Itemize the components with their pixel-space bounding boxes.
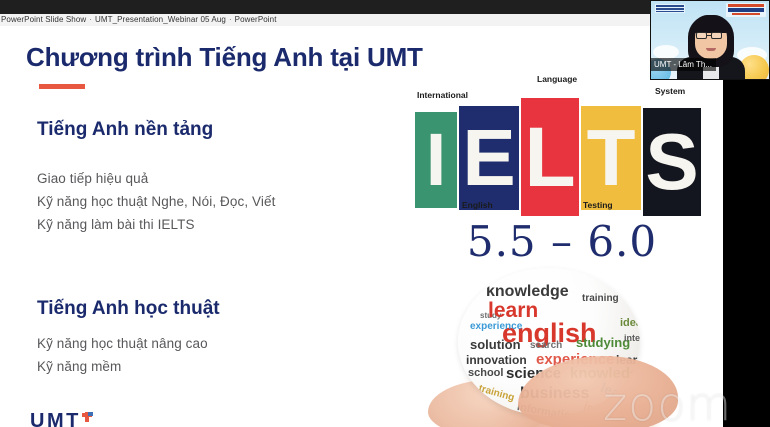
bullet-foundation-1: Giao tiếp hiệu quả bbox=[37, 171, 148, 186]
ielts-letter-e: E bbox=[459, 106, 519, 210]
zoom-shared-screen: PowerPoint Slide Show · UMT_Presentation… bbox=[0, 0, 770, 427]
glasses-bridge bbox=[707, 35, 711, 36]
ielts-logo: I E L T S International Language System … bbox=[415, 84, 710, 214]
person-mouth bbox=[706, 48, 716, 51]
ielts-letter-t: T bbox=[581, 106, 641, 210]
ielts-letter-l: L bbox=[521, 98, 579, 216]
word-studying: studying bbox=[576, 336, 630, 349]
ielts-label-language: Language bbox=[537, 74, 577, 84]
word-experience-left: experience bbox=[470, 322, 522, 332]
umt-logo: UMT bbox=[30, 411, 93, 427]
titlebar-app-name: PowerPoint bbox=[235, 14, 277, 26]
ielts-letter-blocks: I E L T S bbox=[415, 102, 710, 214]
ielts-letter-i: I bbox=[415, 112, 457, 208]
ielts-label-english: English bbox=[462, 200, 493, 210]
ielts-label-system: System bbox=[655, 86, 685, 96]
word-ideas: ideas bbox=[620, 318, 640, 329]
bullet-foundation-2: Kỹ năng học thuật Nghe, Nói, Đọc, Viết bbox=[37, 194, 275, 209]
participant-video-tile[interactable]: UMT - Lâm Th... bbox=[650, 0, 770, 80]
section-heading-academic: Tiếng Anh học thuật bbox=[37, 298, 220, 320]
word-knowledge: knowledge bbox=[486, 284, 569, 300]
ielts-label-testing: Testing bbox=[583, 200, 613, 210]
person-hair-fringe bbox=[693, 15, 729, 33]
word-training: training bbox=[582, 294, 619, 304]
ielts-label-international: International bbox=[417, 90, 468, 100]
participant-name-label: UMT - Lâm Th... bbox=[651, 58, 716, 71]
bullet-academic-2: Kỹ năng mềm bbox=[37, 359, 121, 374]
section-heading-foundation: Tiếng Anh nền tảng bbox=[37, 119, 213, 141]
slide-content-left-column: Tiếng Anh nền tảng Giao tiếp hiệu quả Kỹ… bbox=[0, 26, 400, 427]
umt-logo-text: UMT bbox=[30, 411, 81, 427]
word-solution: solution bbox=[470, 338, 521, 351]
titlebar-separator-2: · bbox=[226, 14, 235, 26]
glasses-lens-right bbox=[711, 32, 722, 39]
umt-plus-icon bbox=[82, 412, 93, 423]
bullet-foundation-3: Kỹ năng làm bài thi IELTS bbox=[37, 217, 195, 232]
word-education: education bbox=[608, 272, 640, 280]
ielts-letter-s: S bbox=[643, 108, 701, 216]
word-search: search bbox=[530, 341, 562, 351]
word-school: school bbox=[468, 368, 503, 379]
titlebar-app-mode: PowerPoint Slide Show bbox=[1, 14, 86, 26]
titlebar-separator-1: · bbox=[86, 14, 95, 26]
titlebar-document-name: UMT_Presentation_Webinar 05 Aug bbox=[95, 14, 226, 26]
bullet-academic-1: Kỹ năng học thuật nâng cao bbox=[37, 336, 208, 351]
glasses-lens-left bbox=[696, 32, 707, 39]
ielts-score-range: 5.5 – 6.0 bbox=[462, 217, 662, 266]
word-cloud-sphere-image: development knowledge training education… bbox=[408, 260, 688, 427]
word-intelligence: intelligence bbox=[624, 334, 640, 343]
presentation-slide: Chương trình Tiếng Anh tại UMT Tiếng Anh… bbox=[0, 26, 723, 427]
